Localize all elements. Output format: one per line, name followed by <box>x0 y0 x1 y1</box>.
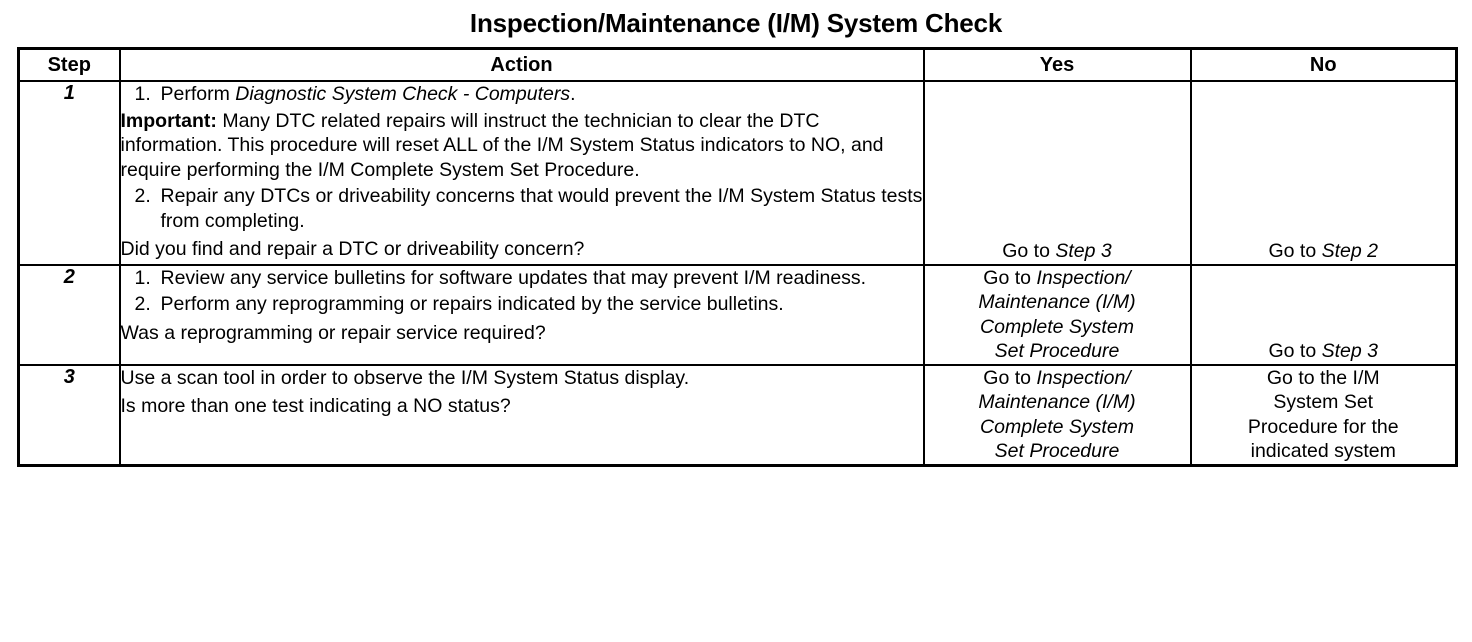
table-row: 2 1. Review any service bulletins for so… <box>19 265 1457 365</box>
procedure-reference: Diagnostic System Check - Computers <box>235 83 570 105</box>
im-system-check-table: Step Action Yes No 1 1. Perform Diagnost… <box>17 47 1458 467</box>
list-text: Review any service bulletins for softwar… <box>161 266 923 291</box>
action-step-item: 1. Perform Diagnostic System Check - Com… <box>121 82 923 107</box>
yes-cell: Go to Inspection/ Maintenance (I/M) Comp… <box>924 265 1191 365</box>
yes-procedure-reference: Complete System <box>925 415 1190 440</box>
step-number-cell: 1 <box>19 81 120 265</box>
no-line: System Set <box>1192 390 1456 415</box>
important-note: Important: Many DTC related repairs will… <box>121 109 923 183</box>
yes-text-plain: Go to <box>1002 240 1055 262</box>
no-cell: Go to Step 2 <box>1191 81 1457 265</box>
yes-procedure-reference: Set Procedure <box>925 339 1190 364</box>
action-cell: Use a scan tool in order to observe the … <box>120 365 924 466</box>
yes-text-plain: Go to <box>983 267 1036 289</box>
action-question: Was a reprogramming or repair service re… <box>121 321 923 346</box>
no-line: Procedure for the <box>1192 415 1456 440</box>
no-line: indicated system <box>1192 439 1456 464</box>
yes-procedure-reference: Maintenance (I/M) <box>925 390 1190 415</box>
table-header: Step Action Yes No <box>19 49 1457 82</box>
no-step-reference: Step 2 <box>1322 240 1378 262</box>
action-step-item: 1. Review any service bulletins for soft… <box>121 266 923 291</box>
yes-cell: Go to Inspection/ Maintenance (I/M) Comp… <box>924 365 1191 466</box>
no-text-plain: Go to <box>1268 240 1321 262</box>
yes-cell: Go to Step 3 <box>924 81 1191 265</box>
important-body: Many DTC related repairs will instruct t… <box>121 110 884 181</box>
column-header-no: No <box>1191 49 1457 82</box>
list-number: 1. <box>135 266 161 291</box>
no-step-reference: Step 3 <box>1322 340 1378 362</box>
action-question: Did you find and repair a DTC or driveab… <box>121 237 923 262</box>
yes-text-plain: Go to <box>983 367 1036 389</box>
action-text-plain: Perform <box>161 83 236 105</box>
action-cell: 1. Perform Diagnostic System Check - Com… <box>120 81 924 265</box>
no-text-plain: Go to <box>1268 340 1321 362</box>
yes-procedure-reference: Maintenance (I/M) <box>925 290 1190 315</box>
list-text: Perform Diagnostic System Check - Comput… <box>161 82 923 107</box>
yes-line: Go to Inspection/ <box>925 266 1190 291</box>
list-text: Perform any reprogramming or repairs ind… <box>161 292 923 317</box>
column-header-yes: Yes <box>924 49 1191 82</box>
important-label: Important: <box>121 110 217 132</box>
im-system-check-table-container: Step Action Yes No 1 1. Perform Diagnost… <box>17 47 1455 467</box>
action-cell: 1. Review any service bulletins for soft… <box>120 265 924 365</box>
action-instruction: Use a scan tool in order to observe the … <box>121 366 923 391</box>
table-row: 3 Use a scan tool in order to observe th… <box>19 365 1457 466</box>
page-title: Inspection/Maintenance (I/M) System Chec… <box>0 8 1472 38</box>
list-number: 2. <box>135 184 161 209</box>
table-body: 1 1. Perform Diagnostic System Check - C… <box>19 81 1457 465</box>
action-step-item: 2. Perform any reprogramming or repairs … <box>121 292 923 317</box>
column-header-action: Action <box>120 49 924 82</box>
column-header-step: Step <box>19 49 120 82</box>
no-cell: Go to Step 3 <box>1191 265 1457 365</box>
yes-procedure-reference: Set Procedure <box>925 439 1190 464</box>
table-header-row: Step Action Yes No <box>19 49 1457 82</box>
step-number-cell: 3 <box>19 365 120 466</box>
yes-procedure-reference: Complete System <box>925 315 1190 340</box>
list-number: 2. <box>135 292 161 317</box>
yes-procedure-reference: Inspection/ <box>1036 267 1130 289</box>
step-number-cell: 2 <box>19 265 120 365</box>
list-number: 1. <box>135 82 161 107</box>
no-cell: Go to the I/M System Set Procedure for t… <box>1191 365 1457 466</box>
list-text: Repair any DTCs or driveability concerns… <box>161 184 923 233</box>
document-page: Inspection/Maintenance (I/M) System Chec… <box>0 0 1472 642</box>
table-row: 1 1. Perform Diagnostic System Check - C… <box>19 81 1457 265</box>
yes-step-reference: Step 3 <box>1055 240 1111 262</box>
yes-line: Go to Inspection/ <box>925 366 1190 391</box>
action-step-item: 2. Repair any DTCs or driveability conce… <box>121 184 923 233</box>
action-question: Is more than one test indicating a NO st… <box>121 394 923 419</box>
action-text-end: . <box>570 83 575 105</box>
yes-procedure-reference: Inspection/ <box>1036 367 1130 389</box>
no-line: Go to the I/M <box>1192 366 1456 391</box>
